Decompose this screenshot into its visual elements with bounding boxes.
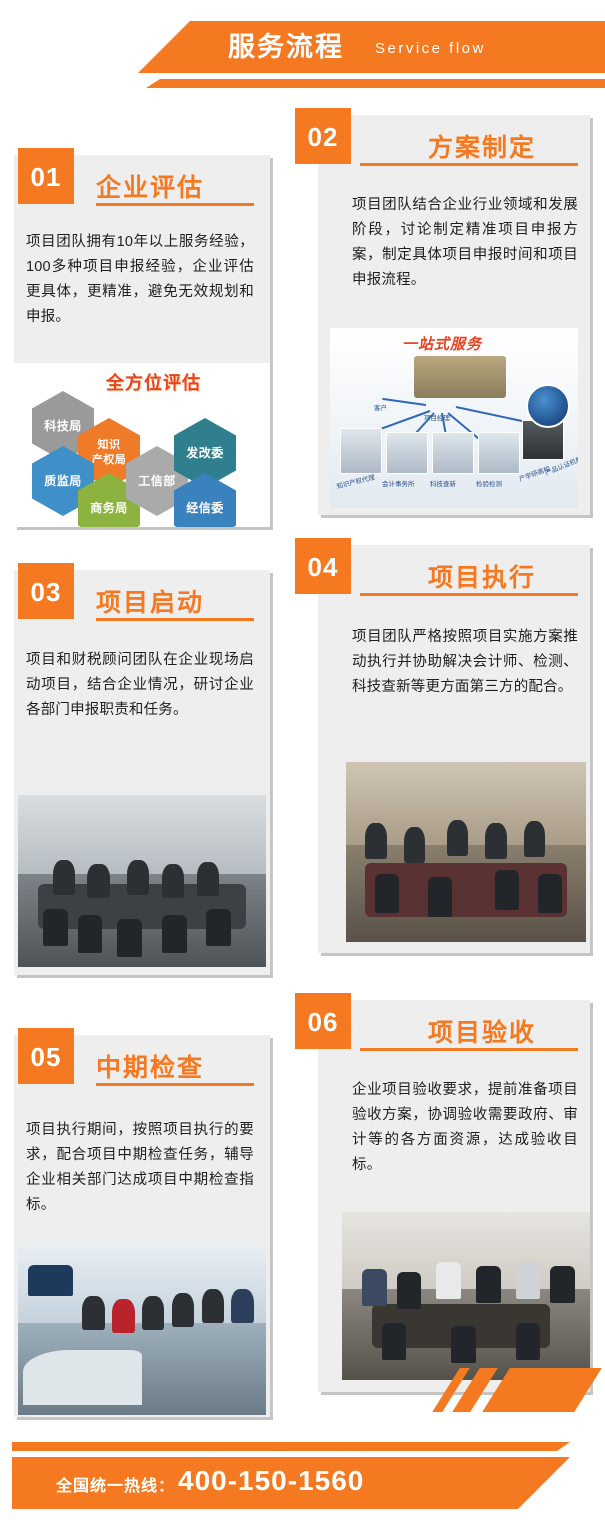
step-title: 方案制定 — [428, 128, 536, 164]
flow-node-photo — [432, 432, 474, 474]
step-number-badge: 05 — [18, 1028, 74, 1084]
flow-arrow — [382, 398, 426, 406]
step-title: 项目执行 — [428, 558, 536, 594]
flow-node-label: 会计事务所 — [382, 478, 415, 488]
hex-diagram-title: 全方位评估 — [106, 369, 201, 395]
flow-client-label: 客户 — [374, 402, 387, 412]
flow-node-photo — [386, 432, 428, 474]
iso-seal-icon — [526, 384, 570, 428]
title-underline — [96, 203, 254, 206]
step-number-badge: 03 — [18, 563, 74, 619]
step-number-badge: 01 — [18, 148, 74, 204]
step-title: 中期检查 — [96, 1048, 204, 1084]
hexagon-assessment-diagram: 全方位评估 科技局 知识产权局 质监局 商务局 工信部 发改委 经信委 — [14, 363, 270, 527]
hotline-number[interactable]: 400-150-1560 — [178, 1465, 364, 1497]
flow-hub-photo — [414, 356, 506, 398]
flow-node-label: 科技查新 — [430, 478, 456, 488]
flow-node-photo — [478, 432, 520, 474]
flow-node-photo — [340, 428, 382, 474]
title-underline — [96, 1083, 254, 1086]
step-description: 项目团队严格按照项目实施方案推动执行并协助解决会计师、检测、科技查新等更方面第三… — [352, 625, 578, 700]
step-description: 项目和财税顾问团队在企业现场启动项目，结合企业情况，研讨企业各部门申报职责和任务… — [26, 648, 254, 723]
acceptance-meeting-photo — [342, 1212, 590, 1380]
showroom-visit-photo — [18, 1245, 266, 1415]
title-underline — [360, 593, 578, 596]
title-underline — [96, 618, 254, 621]
step-number-badge: 02 — [295, 108, 351, 164]
step-number-badge: 06 — [295, 993, 351, 1049]
page-title: 服务流程 — [228, 27, 344, 67]
step-title: 企业评估 — [96, 168, 204, 204]
title-underline — [360, 1048, 578, 1051]
hotline-label: 全国统一热线： — [56, 1472, 175, 1496]
step-title: 项目启动 — [96, 583, 204, 619]
page-subtitle: Service flow — [375, 36, 486, 62]
flow-diagram-title: 一站式服务 — [402, 333, 482, 354]
one-stop-service-diagram: 一站式服务 客户 项目经理 知识产权代理 会计事务所 科技查新 检验检测 产学研… — [330, 328, 578, 508]
header-banner-shape — [138, 21, 605, 73]
step-title: 项目验收 — [428, 1013, 536, 1049]
meeting-table-photo — [346, 762, 586, 942]
step-description: 企业项目验收要求，提前准备项目验收方案，协调验收需要政府、审计等的各方面资源，达… — [352, 1078, 578, 1178]
hex-node-label: 知识产权局 — [92, 438, 127, 468]
footer-accent-stripe — [12, 1442, 570, 1451]
page-header: 服务流程 Service flow — [0, 0, 605, 108]
flow-node-label: 知识产权代理 — [335, 471, 375, 490]
step-description: 项目团队结合企业行业领域和发展阶段，讨论制定精准项目申报方案，制定具体项目申报时… — [352, 193, 578, 293]
step-description: 项目执行期间，按照项目执行的要求，配合项目中期检查任务，辅导企业相关部门达成项目… — [26, 1118, 254, 1218]
conference-room-photo — [18, 795, 266, 967]
step-description: 项目团队拥有10年以上服务经验，100多种项目申报经验，企业评估更具体，更精准，… — [26, 230, 254, 330]
flow-node-label: 检验检测 — [476, 478, 502, 488]
step-number-badge: 04 — [295, 538, 351, 594]
title-underline — [360, 163, 578, 166]
header-accent-stripe — [146, 79, 605, 88]
